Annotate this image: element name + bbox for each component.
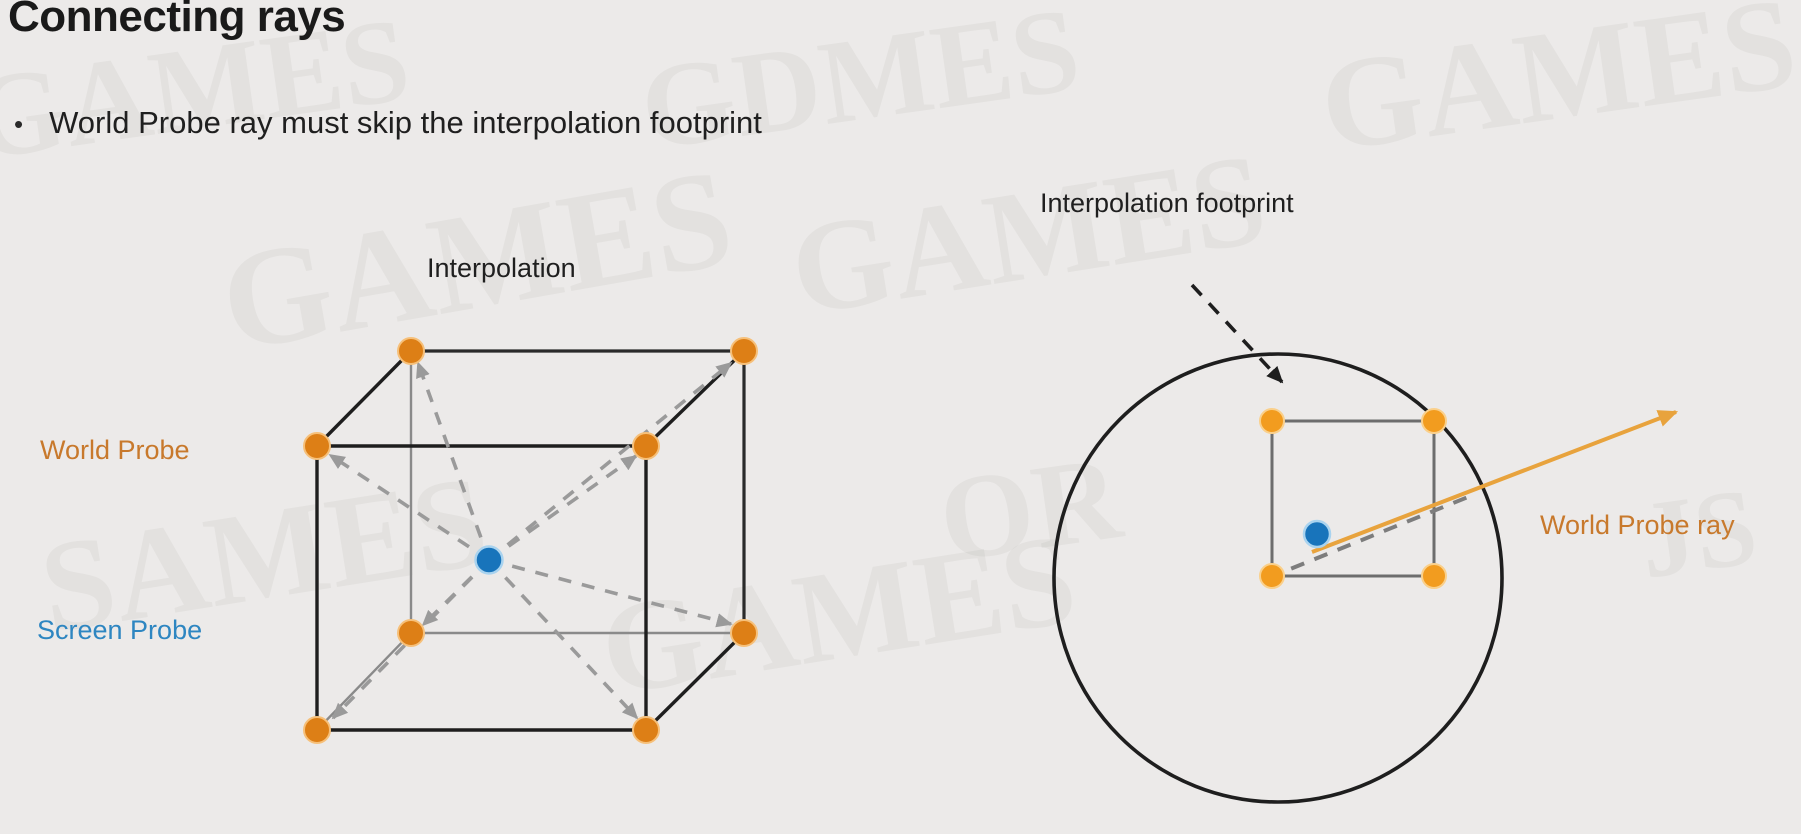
- world-probe-ray-arrow: [1312, 412, 1676, 552]
- diagram-vector-layer: [0, 0, 1801, 834]
- footprint-screen-probe-dot: [1304, 521, 1330, 547]
- cube-interpolation-rays: [330, 363, 731, 718]
- footprint-square: [1272, 421, 1434, 576]
- cube-screen-probe-dot: [476, 547, 503, 574]
- cube-edges: [317, 351, 744, 730]
- slide-canvas: GAMES GAMES GDMES GAMES GAMES SAMES GAME…: [0, 0, 1801, 834]
- cube-world-probe-vertices: [304, 338, 757, 743]
- footprint-world-probe-vertices: [1260, 409, 1446, 588]
